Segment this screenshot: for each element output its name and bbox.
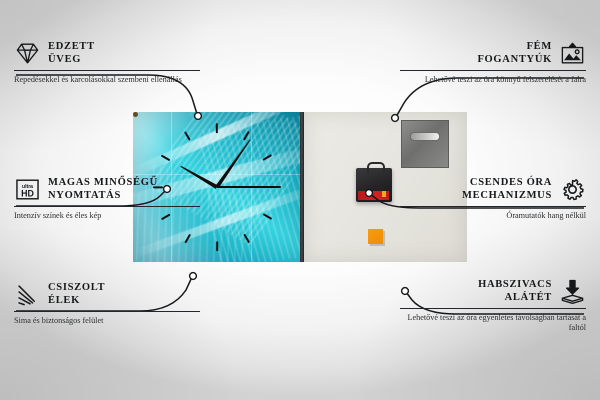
mechanism-label	[358, 191, 389, 200]
callout-tempered-glass: EDZETTÜVEG Repedésekkel és karcolásokkal…	[14, 40, 200, 85]
svg-text:HD: HD	[21, 188, 34, 198]
clock-tick	[215, 123, 217, 133]
callout-title: CSISZOLTÉLEK	[48, 282, 105, 306]
callout-rule	[14, 311, 200, 312]
foam-pad-icon	[559, 278, 586, 305]
callout-metal-handles: FÉMFOGANTYÚK Lehetővé teszi az óra könny…	[400, 40, 586, 85]
callout-title: HABSZIVACSALÁTÉT	[478, 279, 552, 303]
callout-hq-printing: ultra HD MAGAS MINŐSÉGŰNYOMTATÁS Intenzí…	[14, 176, 200, 221]
diamond-icon	[14, 40, 41, 67]
callout-rule	[400, 70, 586, 71]
metal-hanger-plate	[401, 120, 449, 168]
callout-desc: Lehetővé teszi az óra könnyű felszerelés…	[400, 75, 586, 85]
mechanism-hook	[367, 162, 385, 173]
callout-desc: Repedésekkel és karcolásokkal szembeni e…	[14, 75, 200, 85]
polished-edges-icon	[14, 281, 41, 308]
callout-title: CSENDES ÓRAMECHANIZMUS	[462, 177, 552, 201]
callout-desc: Lehetővé teszi az óra egyenletes távolsá…	[400, 313, 586, 334]
foam-pad	[368, 229, 383, 244]
connector-dot-edges	[190, 273, 197, 280]
callout-rule	[14, 70, 200, 71]
clock-center-cap	[133, 112, 138, 117]
callout-rule	[400, 308, 586, 309]
callout-polished-edges: CSISZOLTÉLEK Sima és biztonságos felület	[14, 281, 200, 326]
callout-silent-mechanism: CSENDES ÓRAMECHANIZMUS Óramutatók hang n…	[400, 176, 586, 221]
clock-tick	[215, 241, 217, 251]
gear-icon	[559, 176, 586, 203]
glass-seam	[133, 174, 300, 175]
callout-rule	[14, 206, 200, 207]
callout-rule	[400, 206, 586, 207]
callout-desc: Sima és biztonságos felület	[14, 316, 200, 326]
clock-hand-second	[217, 186, 279, 188]
callout-desc: Óramutatók hang nélkül	[400, 211, 586, 221]
picture-hanger-icon	[559, 40, 586, 67]
clock-mechanism	[356, 168, 392, 202]
callout-desc: Intenzív színek és éles kép	[14, 211, 200, 221]
callout-title: FÉMFOGANTYÚK	[477, 41, 552, 65]
mechanism-label-mark	[382, 191, 386, 197]
hanger-slot	[410, 132, 440, 141]
callout-foam-pad: HABSZIVACSALÁTÉT Lehetővé teszi az óra e…	[400, 278, 586, 334]
callout-title: MAGAS MINŐSÉGŰNYOMTATÁS	[48, 177, 158, 201]
infographic-canvas: EDZETTÜVEG Repedésekkel és karcolásokkal…	[0, 0, 600, 400]
callout-title: EDZETTÜVEG	[48, 41, 95, 65]
ultra-hd-icon: ultra HD	[14, 176, 41, 203]
